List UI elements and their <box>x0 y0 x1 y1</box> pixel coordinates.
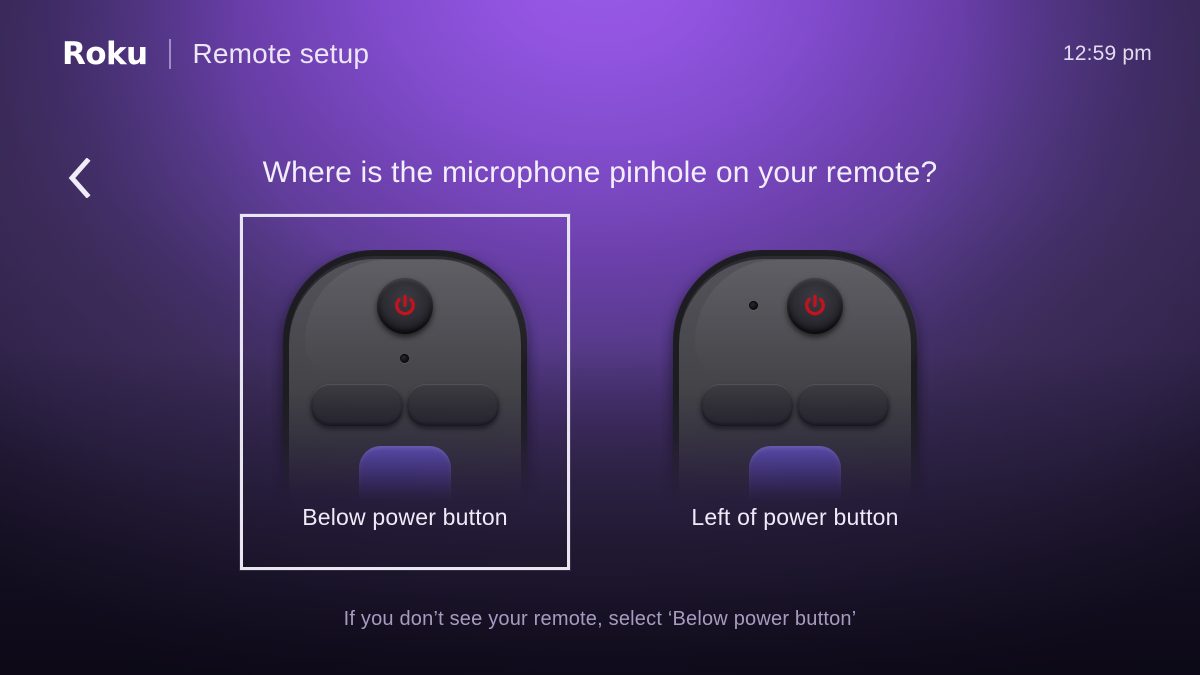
remote-body <box>673 250 917 502</box>
page-title: Remote setup <box>192 38 369 70</box>
remote-button-left <box>311 384 403 426</box>
option-label: Below power button <box>240 504 570 531</box>
remote-body <box>283 250 527 502</box>
header-bar: Roku Remote setup 12:59 pm <box>0 0 1200 108</box>
question-heading: Where is the microphone pinhole on your … <box>0 156 1200 190</box>
remote-illustration-left <box>661 250 929 502</box>
option-label: Left of power button <box>630 504 960 531</box>
option-left-of-power-button[interactable]: Left of power button <box>630 214 960 570</box>
microphone-pinhole-icon <box>400 354 409 363</box>
option-below-power-button[interactable]: Below power button <box>240 214 570 570</box>
vertical-divider-icon <box>169 39 171 69</box>
option-list: Below power button <box>0 214 1200 574</box>
clock: 12:59 pm <box>1063 42 1152 66</box>
chevron-left-icon <box>66 158 92 198</box>
remote-dpad <box>749 446 841 502</box>
remote-button-right <box>797 384 889 426</box>
power-icon <box>787 278 843 334</box>
back-button[interactable] <box>52 148 106 208</box>
remote-button-right <box>407 384 499 426</box>
microphone-pinhole-icon <box>749 301 758 310</box>
remote-dpad <box>359 446 451 502</box>
remote-button-left <box>701 384 793 426</box>
power-icon <box>377 278 433 334</box>
remote-illustration-below <box>271 250 539 502</box>
hint-text: If you don’t see your remote, select ‘Be… <box>0 608 1200 631</box>
roku-remote-setup-screen: Roku Remote setup 12:59 pm Where is the … <box>0 0 1200 675</box>
roku-logo: Roku <box>62 39 147 70</box>
